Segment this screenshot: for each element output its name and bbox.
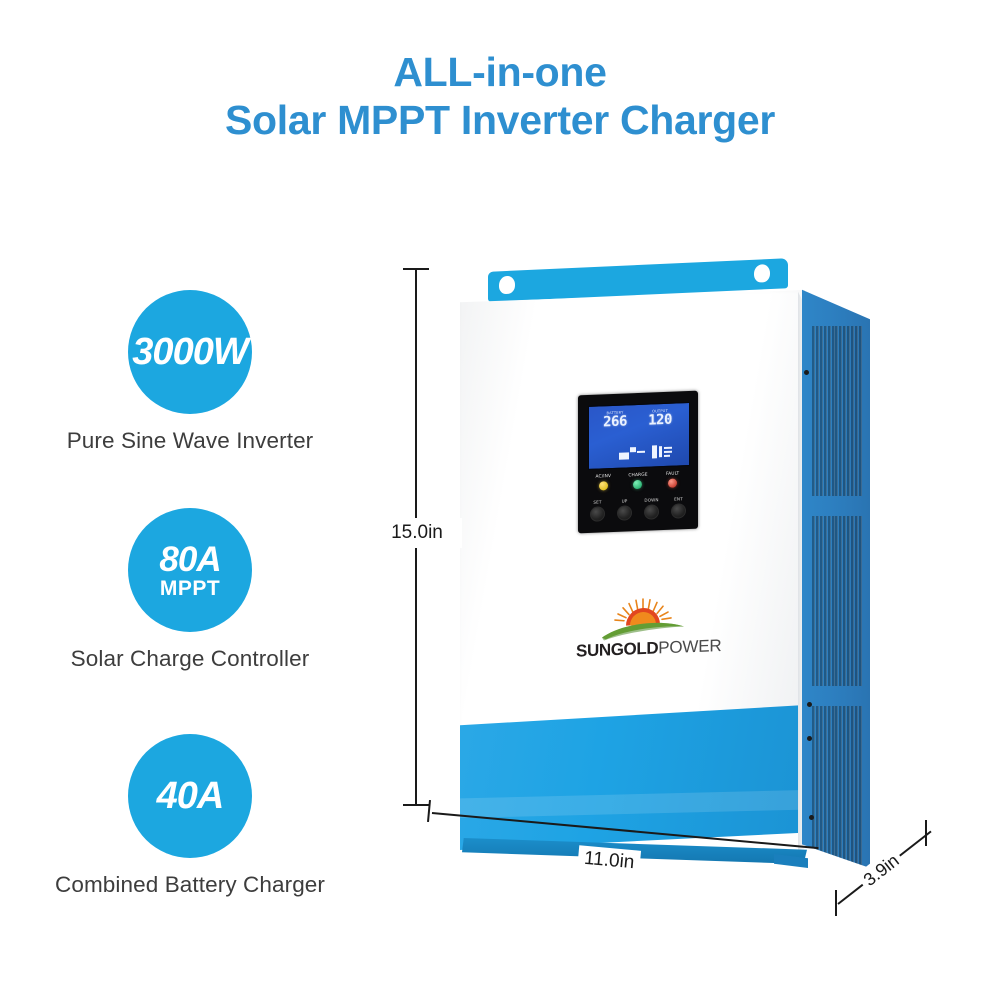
feature-badge-circle: 3000W	[128, 290, 252, 414]
feature-label: Solar Charge Controller	[0, 646, 380, 672]
led-label: CHARGE	[621, 472, 655, 478]
button-ent[interactable]: ENT	[666, 496, 691, 519]
lcd-output-reading: OUTPUT 120	[637, 408, 683, 428]
dimension-label-width: 11.0in	[577, 845, 641, 877]
feature-badge-circle: 40A	[128, 734, 252, 858]
button-set[interactable]: SET	[585, 499, 610, 522]
led-label: FAULT	[656, 471, 690, 477]
title-line-1: ALL-in-one	[0, 48, 1000, 96]
feature-item-battery-charger: 40A Combined Battery Charger	[0, 734, 380, 898]
inverter-front-blue-band	[460, 705, 805, 850]
button-ent-icon[interactable]	[671, 503, 686, 519]
led-yellow-icon	[599, 481, 608, 490]
page-title: ALL-in-one Solar MPPT Inverter Charger	[0, 48, 1000, 145]
button-down[interactable]: DOWN	[639, 497, 664, 520]
led-red-icon	[668, 478, 677, 487]
button-label: UP	[612, 498, 637, 504]
feature-label: Pure Sine Wave Inverter	[0, 428, 380, 454]
vent-grille-middle	[812, 516, 862, 686]
lcd-output-value: 120	[637, 412, 683, 428]
button-label: ENT	[666, 496, 691, 502]
control-panel: BATTERY 266 OUTPUT 120 AC/INV	[578, 391, 698, 534]
led-label: AC/INV	[586, 474, 620, 480]
feature-badge-subvalue: MPPT	[160, 578, 220, 599]
brand-name-light: POWER	[658, 636, 721, 657]
lcd-battery-reading: BATTERY 266	[595, 410, 635, 430]
button-up-icon[interactable]	[617, 505, 632, 521]
lcd-flow-diagram-icon	[619, 441, 685, 464]
vent-grille-top	[812, 326, 862, 496]
button-label: SET	[585, 499, 610, 505]
dimension-cap-top	[403, 268, 429, 270]
lcd-display: BATTERY 266 OUTPUT 120	[588, 402, 690, 470]
led-ac-inv: AC/INV	[586, 474, 620, 491]
feature-item-charge-controller: 80A MPPT Solar Charge Controller	[0, 508, 380, 672]
screw-icon	[804, 370, 809, 375]
feature-label: Combined Battery Charger	[0, 872, 380, 898]
feature-badge-value: 40A	[157, 777, 224, 815]
feature-badge-value: 3000W	[132, 333, 247, 371]
feature-item-inverter: 3000W Pure Sine Wave Inverter	[0, 290, 380, 454]
button-label: DOWN	[639, 497, 664, 503]
bracket-keyhole-left-icon	[499, 276, 515, 295]
title-line-2: Solar MPPT Inverter Charger	[0, 96, 1000, 144]
brand-wordmark: SUNGOLDPOWER	[576, 636, 711, 661]
led-charge: CHARGE	[621, 472, 655, 489]
screw-icon	[807, 736, 812, 741]
screw-icon	[809, 815, 814, 820]
feature-badge-value: 80A	[159, 542, 220, 577]
dimension-label-height: 15.0in	[372, 518, 462, 548]
led-fault: FAULT	[656, 471, 690, 488]
product-illustration: BATTERY 266 OUTPUT 120 AC/INV	[430, 250, 950, 930]
led-green-icon	[633, 480, 642, 489]
led-indicator-row: AC/INV CHARGE FAULT	[586, 471, 690, 491]
button-set-icon[interactable]	[590, 506, 605, 522]
dimension-cap-bottom	[403, 804, 429, 806]
bracket-keyhole-right-icon	[754, 264, 770, 283]
button-up[interactable]: UP	[612, 498, 637, 521]
sunburst-icon	[600, 593, 686, 640]
brand-name-bold: SUNGOLD	[576, 638, 658, 660]
brand-logo: SUNGOLDPOWER	[576, 592, 711, 671]
inverter-side-panel	[802, 278, 870, 868]
control-button-row: SET UP DOWN ENT	[584, 496, 692, 522]
vent-grille-bottom	[812, 706, 862, 866]
screw-icon	[807, 702, 812, 707]
feature-badge-circle: 80A MPPT	[128, 508, 252, 632]
button-down-icon[interactable]	[644, 504, 659, 520]
lcd-battery-value: 266	[595, 414, 635, 430]
